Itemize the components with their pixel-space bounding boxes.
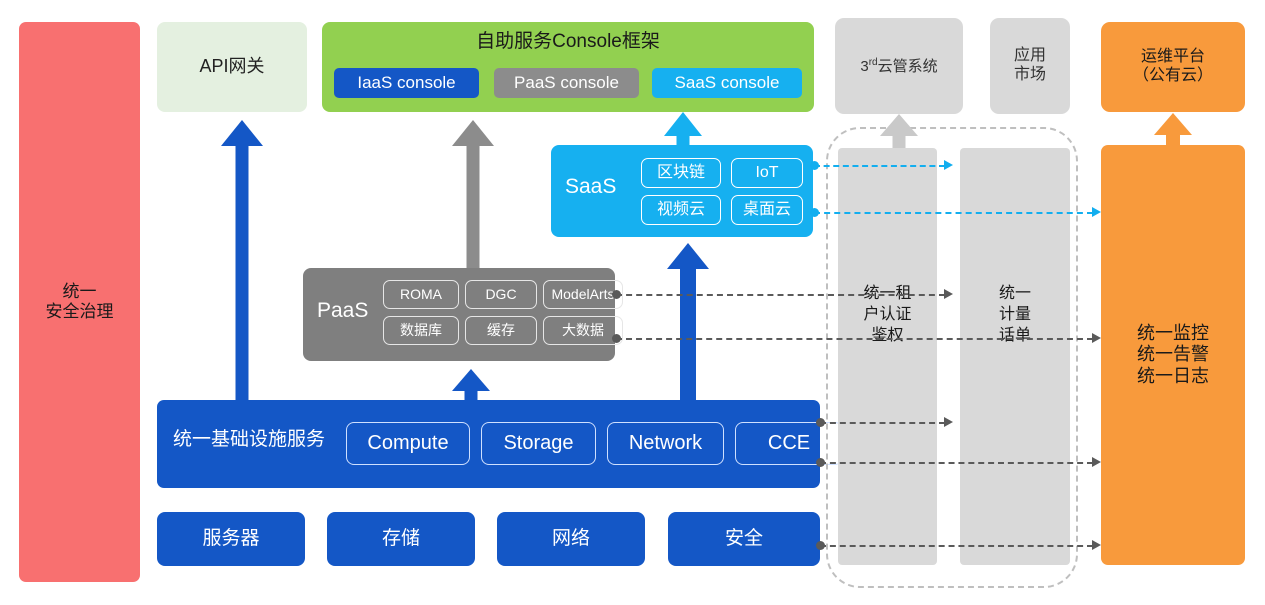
infrastructure-item-compute[interactable]: Compute: [346, 422, 470, 465]
third-party-cloud-management-block: 3rd云管系统: [835, 18, 963, 114]
arrow-infra-to-saas: [667, 243, 709, 401]
arrowhead-paas-to-monitoring: [1092, 333, 1101, 343]
architecture-diagram: 统一 安全治理 API网关 自助服务Console框架 IaaS console…: [0, 0, 1265, 605]
saas-item-iot[interactable]: IoT: [731, 158, 803, 188]
dashed-infra-to-monitoring: [820, 462, 1093, 464]
hardware-server-block[interactable]: 服务器: [157, 512, 305, 566]
arrowhead-infra-to-auth: [944, 417, 953, 427]
arrowhead-paas-to-auth: [944, 289, 953, 299]
app-market-line-2: 市场: [1014, 66, 1046, 85]
monitoring-line-3: 统一日志: [1137, 366, 1209, 387]
arrowhead-hardware-to-monitoring: [1092, 540, 1101, 550]
hardware-storage-block[interactable]: 存储: [327, 512, 475, 566]
dashed-saas-to-auth: [814, 165, 945, 167]
paas-console-chip[interactable]: PaaS console: [494, 68, 639, 98]
console-frame-title: 自助服务Console框架: [322, 31, 814, 53]
auth-line-2: 户认证: [838, 305, 937, 326]
arrow-monitoring-to-ops-platform: [1154, 113, 1192, 147]
paas-item-modelarts[interactable]: ModelArts: [543, 280, 623, 309]
saas-layer-block: SaaS 区块链 IoT 视频云 桌面云: [551, 145, 813, 237]
unified-infrastructure-block: 统一基础设施服务 Compute Storage Network CCE: [157, 400, 820, 488]
app-market-line-1: 应用: [1014, 47, 1046, 66]
arrow-infra-to-api-gateway: [221, 120, 263, 400]
paas-item-dgc[interactable]: DGC: [465, 280, 537, 309]
third-party-prefix: 3: [860, 58, 868, 75]
arrow-shared-to-third-party: [880, 114, 918, 148]
paas-layer-block: PaaS ROMA DGC ModelArts 数据库 缓存 大数据: [303, 268, 615, 361]
unified-billing-column: [960, 148, 1070, 565]
paas-item-cache[interactable]: 缓存: [465, 316, 537, 345]
arrow-paas-to-console: [452, 120, 494, 268]
ops-platform-block: 运维平台 （公有云）: [1101, 22, 1245, 112]
hardware-security-block[interactable]: 安全: [668, 512, 820, 566]
paas-layer-label: PaaS: [317, 299, 368, 324]
saas-layer-label: SaaS: [565, 175, 616, 200]
unified-security-governance-block: 统一 安全治理: [19, 22, 140, 582]
dashed-paas-to-auth: [616, 294, 945, 296]
infrastructure-item-network[interactable]: Network: [607, 422, 724, 465]
monitoring-line-2: 统一告警: [1137, 344, 1209, 365]
saas-console-chip[interactable]: SaaS console: [652, 68, 802, 98]
third-party-superscript: rd: [869, 57, 878, 68]
self-service-console-frame: 自助服务Console框架 IaaS console PaaS console …: [322, 22, 814, 112]
arrowhead-saas-to-monitoring: [1092, 207, 1101, 217]
dashed-paas-to-monitoring: [616, 338, 1093, 340]
arrow-infra-to-paas: [452, 369, 490, 401]
arrowhead-saas-to-auth: [944, 160, 953, 170]
paas-item-database[interactable]: 数据库: [383, 316, 459, 345]
api-gateway-block: API网关: [157, 22, 307, 112]
iaas-console-chip[interactable]: IaaS console: [334, 68, 479, 98]
auth-line-3: 鉴权: [838, 326, 937, 347]
dashed-hardware-to-monitoring: [820, 545, 1093, 547]
billing-line-3: 话单: [960, 326, 1070, 347]
saas-item-blockchain[interactable]: 区块链: [641, 158, 721, 188]
saas-item-desktop-cloud[interactable]: 桌面云: [731, 195, 803, 225]
ops-platform-line-2: （公有云）: [1133, 67, 1213, 86]
monitoring-block: 统一监控 统一告警 统一日志: [1101, 145, 1245, 565]
paas-item-roma[interactable]: ROMA: [383, 280, 459, 309]
infrastructure-item-storage[interactable]: Storage: [481, 422, 596, 465]
hardware-network-block[interactable]: 网络: [497, 512, 645, 566]
arrow-saas-to-console: [664, 112, 702, 148]
paas-item-bigdata[interactable]: 大数据: [543, 316, 623, 345]
ops-platform-line-1: 运维平台: [1133, 48, 1213, 67]
third-party-rest: 云管系统: [878, 58, 938, 75]
security-line-1: 统一: [46, 282, 114, 302]
arrowhead-infra-to-monitoring: [1092, 457, 1101, 467]
billing-line-2: 计量: [960, 305, 1070, 326]
billing-line-1: 统一: [960, 284, 1070, 305]
saas-item-video-cloud[interactable]: 视频云: [641, 195, 721, 225]
unified-tenant-auth-column: [838, 148, 937, 565]
dashed-infra-to-auth: [820, 422, 945, 424]
infrastructure-label: 统一基础设施服务: [173, 429, 325, 451]
security-line-2: 安全治理: [46, 302, 114, 322]
dashed-saas-to-monitoring: [814, 212, 1093, 214]
app-market-block: 应用 市场: [990, 18, 1070, 114]
monitoring-line-1: 统一监控: [1137, 323, 1209, 344]
